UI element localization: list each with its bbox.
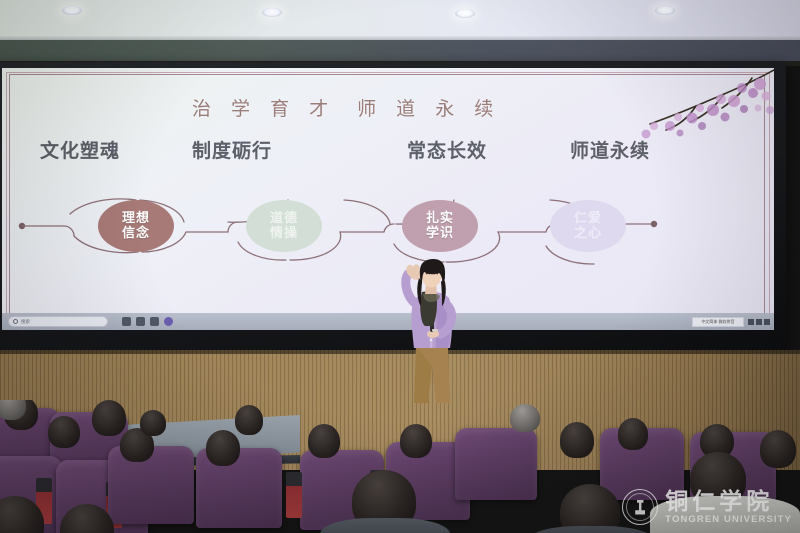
- seat: [455, 428, 537, 500]
- audience-shoulder: [528, 526, 654, 533]
- university-seal-icon: [622, 489, 658, 525]
- timeline-diagram: 理想 信念 道德 情操 扎实 学识 仁爱 之心: [2, 186, 774, 276]
- audience-head: [140, 410, 166, 436]
- timeline-node-2: 扎实 学识: [402, 200, 478, 252]
- node-line-2: 之心: [574, 226, 602, 241]
- taskbar-icons[interactable]: [122, 317, 173, 326]
- taskbar[interactable]: 搜索 中文简体 微软拼音: [2, 313, 774, 330]
- lecture-hall-photo: 治 学 育 才师 道 永 续 文化塑魂 制度砺行 常态长效 师道永续: [0, 0, 800, 533]
- ime-tooltip: 中文简体 微软拼音: [692, 317, 744, 327]
- audience-head: [308, 424, 340, 458]
- node-line-2: 信念: [122, 226, 150, 241]
- audience-head: [235, 405, 263, 435]
- node-line-1: 仁爱: [574, 211, 602, 226]
- watermark-name-cn: 铜仁学院: [665, 489, 792, 514]
- timeline-node-0: 理想 信念: [98, 200, 174, 252]
- volume-icon[interactable]: [756, 319, 762, 325]
- tray-icons[interactable]: [748, 319, 770, 325]
- audience-head: [206, 430, 240, 466]
- seat: [108, 446, 194, 524]
- projected-slide: 治 学 育 才师 道 永 续 文化塑魂 制度砺行 常态长效 师道永续: [2, 68, 774, 330]
- audience-head: [760, 430, 796, 468]
- ceiling-downlight: [655, 6, 675, 15]
- node-line-2: 情操: [270, 226, 298, 241]
- node-line-1: 道德: [270, 211, 298, 226]
- ceiling-downlight: [62, 6, 82, 15]
- watermark-logo: 铜仁学院 TONGREN UNIVERSITY: [622, 489, 792, 525]
- slide-title: 治 学 育 才师 道 永 续: [192, 94, 500, 121]
- timeline-node-1: 道德 情操: [246, 200, 322, 252]
- ceiling: [0, 0, 800, 42]
- ceiling-downlight: [455, 9, 475, 18]
- audience-head: [400, 424, 432, 458]
- search-icon: [13, 319, 18, 324]
- subheading-3: 师道永续: [570, 136, 650, 163]
- ceiling-downlight: [262, 8, 282, 17]
- subheading-2: 常态长效: [407, 136, 487, 163]
- node-line-2: 学识: [426, 226, 454, 241]
- search-input[interactable]: 搜索: [8, 316, 108, 327]
- network-icon[interactable]: [748, 319, 754, 325]
- presenter: [392, 258, 472, 403]
- browser-icon[interactable]: [150, 317, 159, 326]
- timeline-node-3: 仁爱 之心: [550, 200, 626, 252]
- audience-head: [618, 418, 648, 450]
- app-icon[interactable]: [164, 317, 173, 326]
- node-line-1: 扎实: [426, 211, 454, 226]
- seat-armrest: [286, 472, 302, 518]
- node-line-1: 理想: [122, 211, 150, 226]
- task-view-icon[interactable]: [122, 317, 131, 326]
- subheading-1: 制度砺行: [192, 136, 272, 163]
- audience-head: [560, 422, 594, 458]
- system-tray[interactable]: 中文简体 微软拼音: [692, 317, 770, 327]
- audience-head: [48, 416, 80, 448]
- watermark-name-en: TONGREN UNIVERSITY: [665, 514, 792, 525]
- battery-icon[interactable]: [764, 319, 770, 325]
- search-placeholder: 搜索: [21, 319, 30, 325]
- subheading-0: 文化塑魂: [40, 136, 120, 163]
- file-explorer-icon[interactable]: [136, 317, 145, 326]
- audience-head: [92, 400, 126, 436]
- audience-head: [510, 404, 540, 432]
